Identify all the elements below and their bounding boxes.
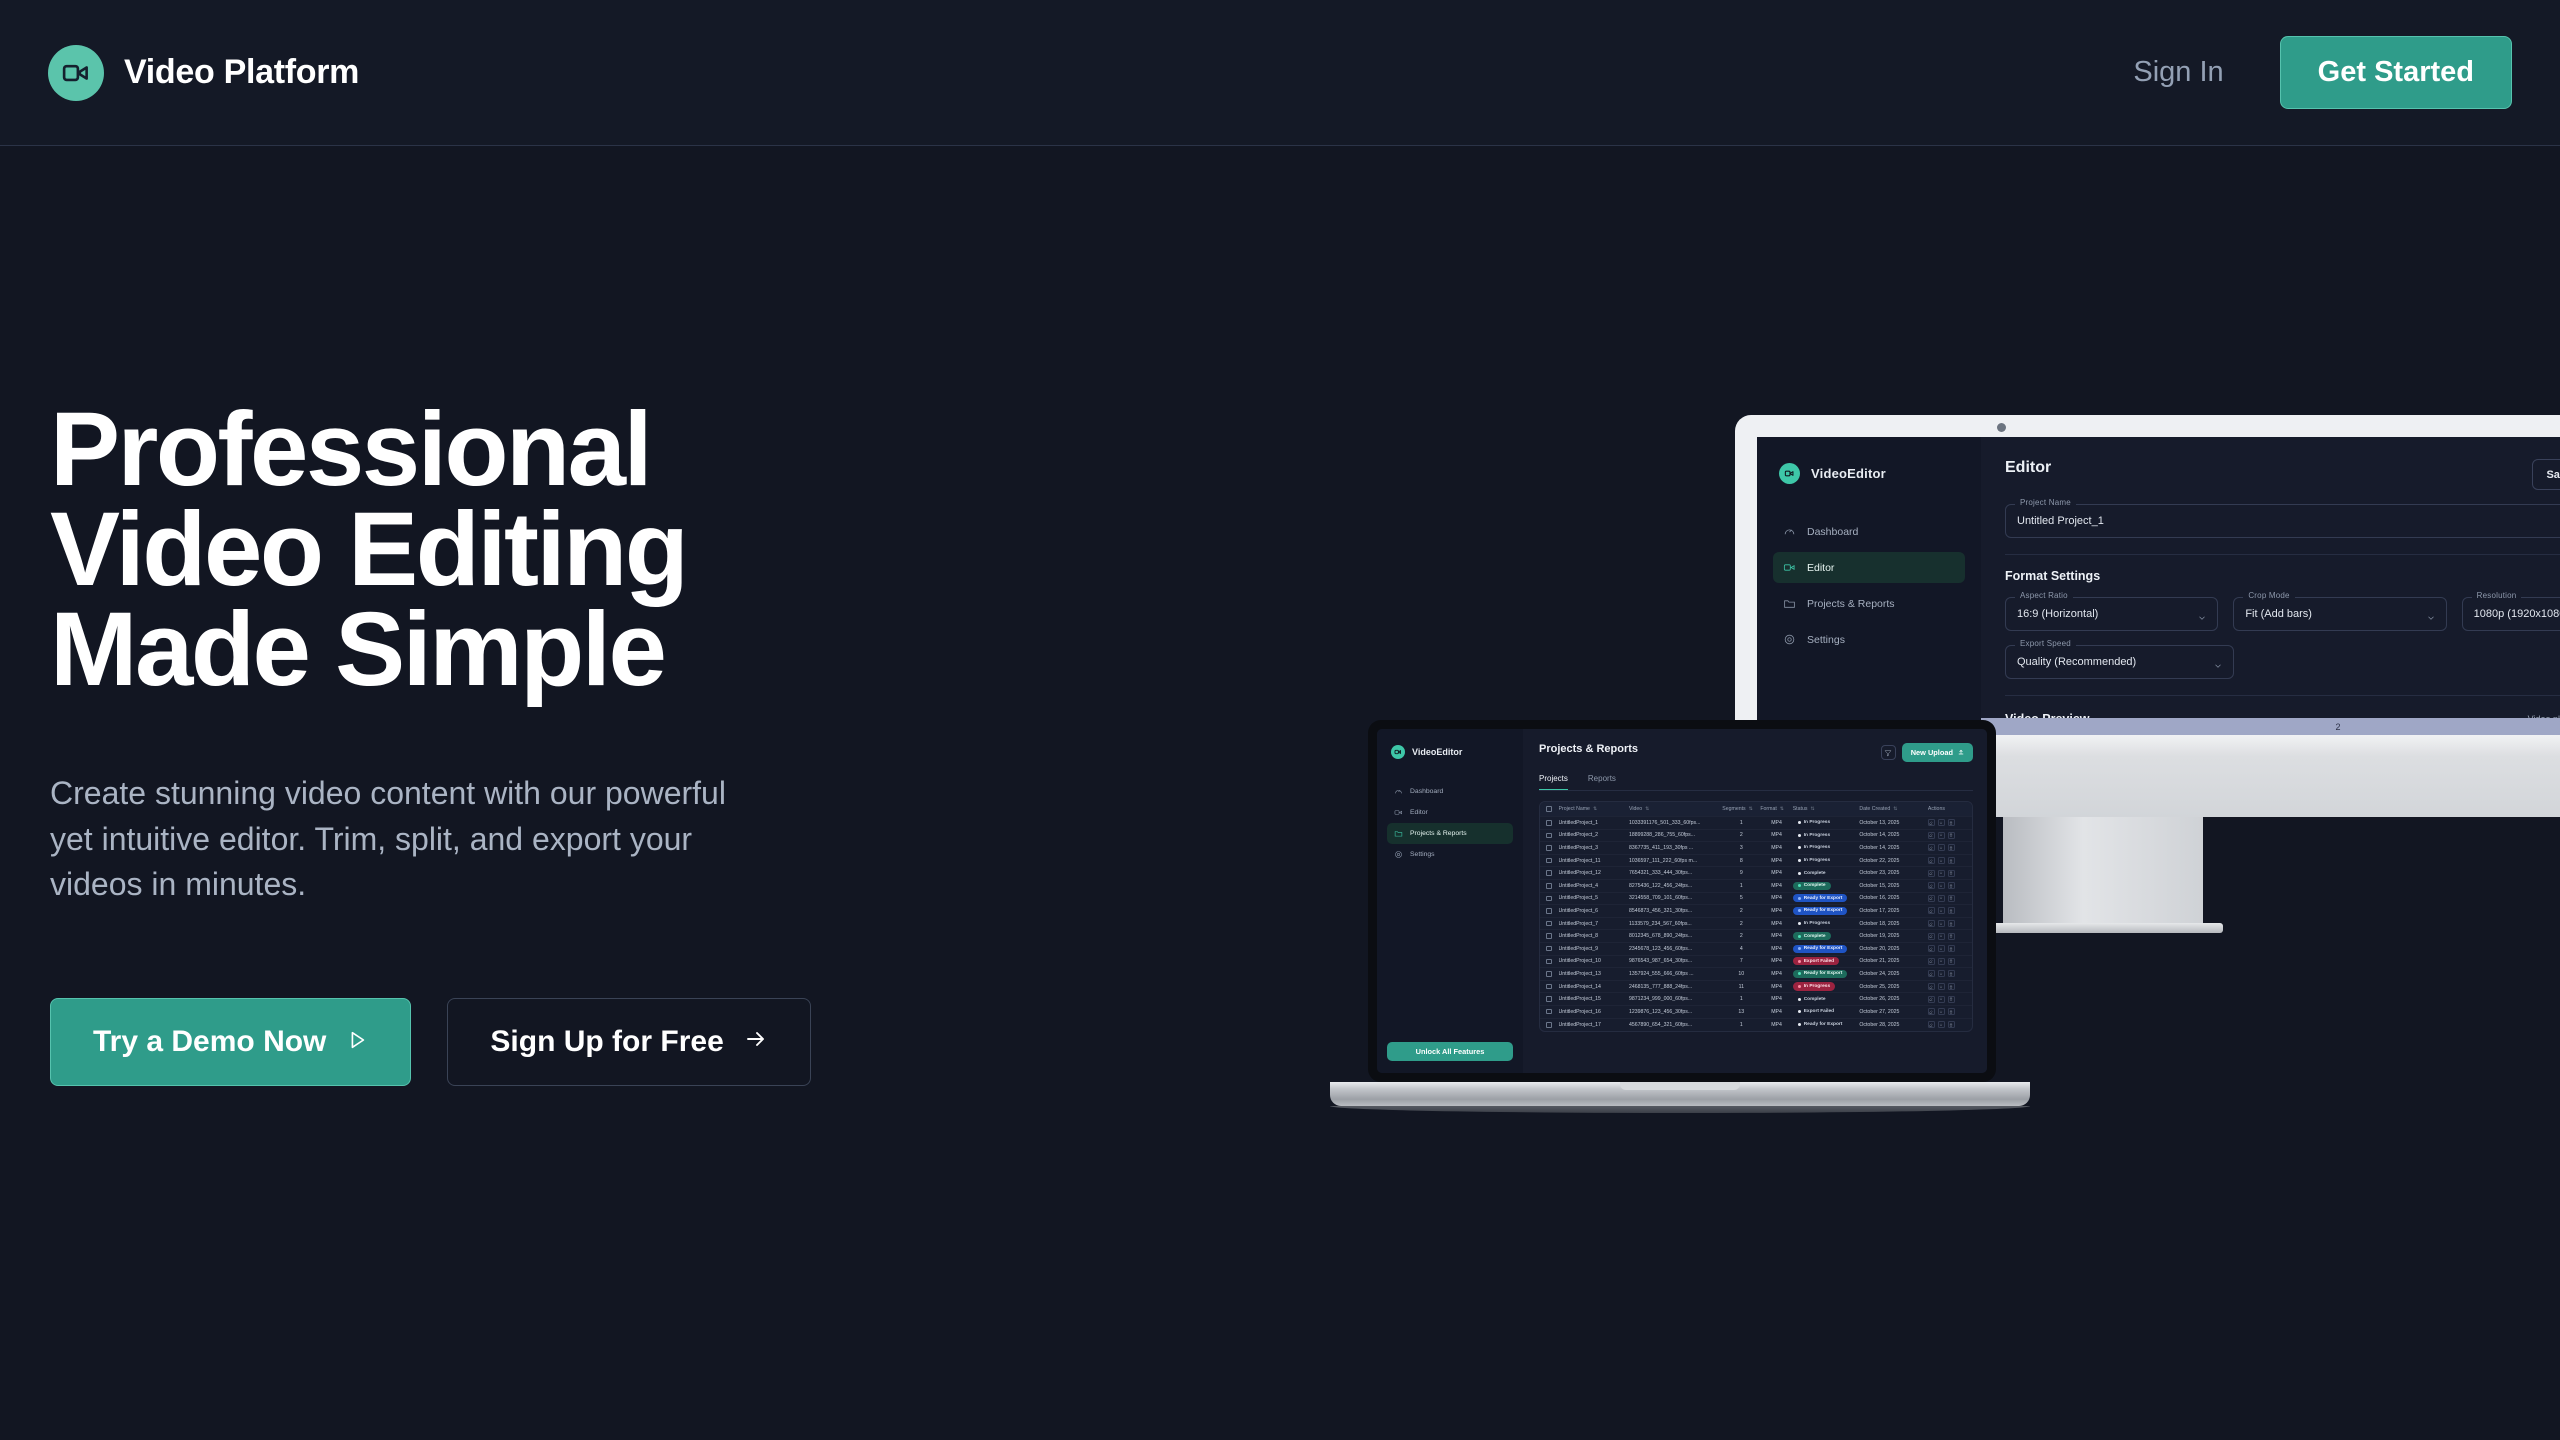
select-all-checkbox[interactable] <box>1546 806 1552 812</box>
cell-date-created: October 17, 2025 <box>1859 908 1928 914</box>
row-checkbox[interactable] <box>1546 996 1552 1002</box>
cell-format: MP4 <box>1760 933 1792 939</box>
sidebar-label: Projects & Reports <box>1410 830 1467 837</box>
cell-status: In Progress <box>1793 919 1860 927</box>
try-demo-label: Try a Demo Now <box>93 1025 326 1059</box>
status-badge: In Progress <box>1793 844 1835 852</box>
edit-icon[interactable] <box>1928 895 1935 902</box>
row-checkbox[interactable] <box>1546 984 1552 990</box>
tab-projects[interactable]: Projects <box>1539 774 1568 790</box>
cell-date-created: October 21, 2025 <box>1859 958 1928 964</box>
header-nav: Sign In Get Started <box>2133 36 2512 109</box>
sidebar-item-settings[interactable]: Settings <box>1387 844 1513 865</box>
row-checkbox[interactable] <box>1546 921 1552 927</box>
cell-date-created: October 18, 2025 <box>1859 921 1928 927</box>
edit-icon[interactable] <box>1928 819 1935 826</box>
cell-format: MP4 <box>1760 845 1792 851</box>
projects-brand-name: VideoEditor <box>1412 747 1462 757</box>
chevron-down-icon <box>2197 610 2207 628</box>
cell-project-name: UntitledProject_13 <box>1559 971 1629 977</box>
cell-status: Export Failed <box>1793 957 1860 965</box>
edit-icon[interactable] <box>1928 882 1935 889</box>
sidebar-item-settings[interactable]: Settings <box>1773 624 1965 655</box>
editor-page-title: Editor <box>2005 459 2051 477</box>
webcam-dot-icon <box>1997 423 2006 432</box>
sign-in-link[interactable]: Sign In <box>2133 56 2223 89</box>
landing-page: Video Platform Sign In Get Started Profe… <box>0 0 2560 1440</box>
projects-page-title: Projects & Reports <box>1539 743 1638 755</box>
col-actions: Actions <box>1928 806 1966 812</box>
col-date-created[interactable]: Date Created⇅ <box>1859 806 1928 812</box>
timeline-bar[interactable]: 2 <box>1981 718 2560 735</box>
row-checkbox[interactable] <box>1546 1009 1552 1015</box>
col-format[interactable]: Format⇅ <box>1760 806 1792 812</box>
cell-video: 2468135_777_888_24fps... <box>1629 984 1722 990</box>
delete-trash-icon[interactable] <box>1948 907 1955 914</box>
cell-format: MP4 <box>1760 895 1792 901</box>
sidebar-item-projects-reports[interactable]: Projects & Reports <box>1387 823 1513 844</box>
cell-video: 18899288_286_755_60fps... <box>1629 832 1722 838</box>
delete-trash-icon[interactable] <box>1948 882 1955 889</box>
status-badge: In Progress <box>1793 919 1835 927</box>
sort-icon: ⇅ <box>1810 806 1814 812</box>
row-checkbox[interactable] <box>1546 896 1552 902</box>
cell-status: Export Failed <box>1793 1008 1860 1016</box>
cell-segments: 2 <box>1722 832 1760 838</box>
cell-actions <box>1928 870 1966 877</box>
video-camera-icon <box>48 45 104 101</box>
project-name-value: Untitled Project_1 <box>2017 515 2104 527</box>
cell-segments: 2 <box>1722 921 1760 927</box>
sidebar-item-editor[interactable]: Editor <box>1773 552 1965 583</box>
delete-trash-icon[interactable] <box>1948 945 1955 952</box>
chevron-down-icon <box>2426 610 2436 628</box>
cell-date-created: October 13, 2025 <box>1859 820 1928 826</box>
cell-segments: 3 <box>1722 845 1760 851</box>
download-icon[interactable] <box>1938 970 1945 977</box>
download-icon[interactable] <box>1938 844 1945 851</box>
format-settings-heading: Format Settings <box>2005 569 2560 583</box>
cell-format: MP4 <box>1760 858 1792 864</box>
edit-icon[interactable] <box>1928 920 1935 927</box>
cell-date-created: October 14, 2025 <box>1859 845 1928 851</box>
table-row[interactable]: UntitledProject_68546873_456_321_30fps..… <box>1540 905 1972 918</box>
table-row[interactable]: UntitledProject_111036597_111_222_60fps … <box>1540 855 1972 868</box>
cell-project-name: UntitledProject_11 <box>1559 858 1629 864</box>
row-checkbox[interactable] <box>1546 946 1552 952</box>
status-badge: Ready for Export <box>1793 894 1848 902</box>
row-checkbox[interactable] <box>1546 959 1552 965</box>
cell-status: Ready for Export <box>1793 945 1860 953</box>
cell-status: In Progress <box>1793 982 1860 990</box>
row-checkbox[interactable] <box>1546 933 1552 939</box>
cell-project-name: UntitledProject_1 <box>1559 820 1629 826</box>
cell-video: 1357924_555_666_60fps ... <box>1629 971 1722 977</box>
cell-date-created: October 22, 2025 <box>1859 858 1928 864</box>
cell-status: Ready for Export <box>1793 970 1860 978</box>
download-icon[interactable] <box>1938 945 1945 952</box>
cell-status: Complete <box>1793 869 1860 877</box>
status-badge: In Progress <box>1793 982 1835 990</box>
laptop-lid: VideoEditor Dashboard Editor Projec <box>1368 720 1996 1082</box>
folder-icon <box>1783 597 1796 610</box>
cell-actions <box>1928 920 1966 927</box>
resolution-legend: Resolution <box>2472 591 2522 600</box>
hero-subtitle: Create stunning video content with our p… <box>50 771 730 907</box>
status-badge: Ready for Export <box>1793 970 1848 978</box>
laptop-mockup: VideoEditor Dashboard Editor Projec <box>1330 720 2030 1140</box>
delete-trash-icon[interactable] <box>1948 996 1955 1003</box>
cell-actions <box>1928 970 1966 977</box>
cell-video: 9871234_999_000_60fps... <box>1629 996 1722 1002</box>
video-camera-icon <box>1779 463 1800 484</box>
cell-status: In Progress <box>1793 819 1860 827</box>
sidebar-label: Editor <box>1807 562 1834 574</box>
export-speed-legend: Export Speed <box>2015 639 2076 648</box>
cell-actions <box>1928 844 1966 851</box>
export-speed-value: Quality (Recommended) <box>2017 656 2136 668</box>
projects-main: Projects & Reports New Upload Projects <box>1523 729 1987 1073</box>
cell-date-created: October 28, 2025 <box>1859 1022 1928 1028</box>
site-header: Video Platform Sign In Get Started <box>0 0 2560 146</box>
cell-video: 1033391176_501_333_60fps... <box>1629 820 1722 826</box>
cell-video: 1133579_234_567_60fps... <box>1629 921 1722 927</box>
cell-date-created: October 14, 2025 <box>1859 832 1928 838</box>
cell-video: 7654321_333_444_30fps... <box>1629 870 1722 876</box>
cell-format: MP4 <box>1760 832 1792 838</box>
col-project-name[interactable]: Project Name⇅ <box>1559 806 1629 812</box>
edit-icon[interactable] <box>1928 933 1935 940</box>
download-icon[interactable] <box>1938 895 1945 902</box>
edit-icon[interactable] <box>1928 832 1935 839</box>
project-name-field[interactable]: Project Name Untitled Project_1 <box>2005 504 2560 538</box>
desktop-monitor-mockup: VideoEditor Dashboard Editor <box>1735 415 2560 735</box>
new-upload-label: New Upload <box>1911 748 1953 757</box>
cell-format: MP4 <box>1760 883 1792 889</box>
timeline-value: 2 <box>2335 722 2340 732</box>
crop-mode-select[interactable]: Crop Mode Fit (Add bars) <box>2233 597 2446 631</box>
try-demo-button[interactable]: Try a Demo Now <box>50 998 411 1086</box>
device-mockups: VideoEditor Dashboard Editor <box>1330 330 2560 1210</box>
cell-format: MP4 <box>1760 908 1792 914</box>
delete-trash-icon[interactable] <box>1948 1008 1955 1015</box>
cell-project-name: UntitledProject_6 <box>1559 908 1629 914</box>
cell-project-name: UntitledProject_4 <box>1559 883 1629 889</box>
cell-video: 8546873_456_321_30fps... <box>1629 908 1722 914</box>
projects-sidebar: VideoEditor Dashboard Editor Projec <box>1377 729 1523 1073</box>
cell-actions <box>1928 996 1966 1003</box>
cell-project-name: UntitledProject_10 <box>1559 958 1629 964</box>
sort-icon: ⇅ <box>1893 806 1897 812</box>
col-video[interactable]: Video⇅ <box>1629 806 1722 812</box>
cell-segments: 11 <box>1722 984 1760 990</box>
gear-icon <box>1394 850 1403 859</box>
editor-main: Editor Save Export Project Nam <box>1981 437 2560 735</box>
video-camera-icon <box>1394 808 1403 817</box>
cell-format: MP4 <box>1760 946 1792 952</box>
upload-icon <box>1958 748 1964 757</box>
row-checkbox[interactable] <box>1546 833 1552 839</box>
video-camera-icon <box>1783 561 1796 574</box>
delete-trash-icon[interactable] <box>1948 819 1955 826</box>
gear-icon <box>1783 633 1796 646</box>
table-row[interactable]: UntitledProject_127654321_333_444_30fps.… <box>1540 867 1972 880</box>
table-row[interactable]: UntitledProject_131357924_555_666_60fps … <box>1540 968 1972 981</box>
edit-icon[interactable] <box>1928 945 1935 952</box>
cell-video: 8012345_678_890_24fps... <box>1629 933 1722 939</box>
delete-trash-icon[interactable] <box>1948 958 1955 965</box>
col-segments[interactable]: Segments⇅ <box>1722 806 1760 812</box>
cell-format: MP4 <box>1760 820 1792 826</box>
cell-actions <box>1928 857 1966 864</box>
editor-actions: Save Export <box>2532 459 2560 490</box>
unlock-all-features-button[interactable]: Unlock All Features <box>1387 1042 1513 1061</box>
download-icon[interactable] <box>1938 857 1945 864</box>
edit-icon[interactable] <box>1928 857 1935 864</box>
table-row[interactable]: UntitledProject_38367735_411_193_30fps .… <box>1540 842 1972 855</box>
cell-video: 2345678_123_456_60fps... <box>1629 946 1722 952</box>
status-badge: Complete <box>1793 995 1831 1003</box>
laptop-foot-shadow <box>1330 1106 2030 1113</box>
download-icon[interactable] <box>1938 958 1945 965</box>
delete-trash-icon[interactable] <box>1948 970 1955 977</box>
cell-actions <box>1928 1008 1966 1015</box>
sort-icon: ⇅ <box>1780 806 1784 812</box>
edit-icon[interactable] <box>1928 870 1935 877</box>
download-icon[interactable] <box>1938 882 1945 889</box>
sidebar-item-editor[interactable]: Editor <box>1387 802 1513 823</box>
download-icon[interactable] <box>1938 832 1945 839</box>
get-started-button[interactable]: Get Started <box>2280 36 2512 109</box>
cell-format: MP4 <box>1760 971 1792 977</box>
row-checkbox[interactable] <box>1546 971 1552 977</box>
row-checkbox[interactable] <box>1546 1022 1552 1028</box>
download-icon[interactable] <box>1938 870 1945 877</box>
download-icon[interactable] <box>1938 996 1945 1003</box>
filter-funnel-icon[interactable] <box>1881 745 1896 760</box>
laptop-base-notch <box>1620 1082 1740 1090</box>
download-icon[interactable] <box>1938 983 1945 990</box>
download-icon[interactable] <box>1938 907 1945 914</box>
hero-title-line-3: Made Simple <box>50 600 1050 700</box>
table-row[interactable]: UntitledProject_48275436_122_456_24fps..… <box>1540 880 1972 893</box>
cell-project-name: UntitledProject_3 <box>1559 845 1629 851</box>
cell-project-name: UntitledProject_17 <box>1559 1022 1629 1028</box>
download-icon[interactable] <box>1938 933 1945 940</box>
cell-status: Ready for Export <box>1793 1021 1860 1029</box>
table-row[interactable]: UntitledProject_92345678_123_456_60fps..… <box>1540 943 1972 956</box>
cell-video: 8367735_411_193_30fps ... <box>1629 845 1722 851</box>
hero-section: Professional Video Editing Made Simple C… <box>50 400 1050 1086</box>
sidebar-item-dashboard[interactable]: Dashboard <box>1387 781 1513 802</box>
editor-brand: VideoEditor <box>1773 463 1965 484</box>
cell-status: Complete <box>1793 932 1860 940</box>
row-checkbox[interactable] <box>1546 870 1552 876</box>
cell-format: MP4 <box>1760 958 1792 964</box>
cell-segments: 2 <box>1722 908 1760 914</box>
delete-trash-icon[interactable] <box>1948 983 1955 990</box>
video-camera-icon <box>1391 745 1405 759</box>
edit-icon[interactable] <box>1928 983 1935 990</box>
cell-actions <box>1928 832 1966 839</box>
cell-date-created: October 24, 2025 <box>1859 971 1928 977</box>
cell-project-name: UntitledProject_15 <box>1559 996 1629 1002</box>
download-icon[interactable] <box>1938 920 1945 927</box>
monitor-stand-neck <box>2003 817 2203 925</box>
aspect-ratio-value: 16:9 (Horizontal) <box>2017 608 2098 620</box>
resolution-value: 1080p (1920x1080) <box>2474 608 2560 620</box>
download-icon[interactable] <box>1938 1021 1945 1028</box>
cell-segments: 1 <box>1722 1022 1760 1028</box>
brand-name: Video Platform <box>124 53 359 92</box>
cell-format: MP4 <box>1760 1022 1792 1028</box>
col-status[interactable]: Status⇅ <box>1793 806 1860 812</box>
cell-date-created: October 15, 2025 <box>1859 883 1928 889</box>
cell-status: Ready for Export <box>1793 907 1860 915</box>
cell-date-created: October 16, 2025 <box>1859 895 1928 901</box>
edit-icon[interactable] <box>1928 907 1935 914</box>
table-row[interactable]: UntitledProject_71133579_234_567_60fps..… <box>1540 918 1972 931</box>
cell-video: 1036597_111_222_60fps m... <box>1629 858 1722 864</box>
cell-status: Complete <box>1793 882 1860 890</box>
cell-video: 9876543_987_654_30fps... <box>1629 958 1722 964</box>
cell-project-name: UntitledProject_5 <box>1559 895 1629 901</box>
status-badge: Ready for Export <box>1793 1021 1848 1029</box>
status-badge: Complete <box>1793 882 1831 890</box>
cell-date-created: October 20, 2025 <box>1859 946 1928 952</box>
download-icon[interactable] <box>1938 1008 1945 1015</box>
delete-trash-icon[interactable] <box>1948 832 1955 839</box>
row-checkbox[interactable] <box>1546 858 1552 864</box>
cell-segments: 2 <box>1722 933 1760 939</box>
play-triangle-icon <box>346 1025 368 1059</box>
delete-trash-icon[interactable] <box>1948 1021 1955 1028</box>
sidebar-label: Dashboard <box>1410 788 1443 795</box>
row-checkbox[interactable] <box>1546 908 1552 914</box>
chevron-down-icon <box>2213 658 2223 676</box>
delete-trash-icon[interactable] <box>1948 933 1955 940</box>
status-badge: In Progress <box>1793 856 1835 864</box>
edit-icon[interactable] <box>1928 996 1935 1003</box>
cell-segments: 13 <box>1722 1009 1760 1015</box>
download-icon[interactable] <box>1938 819 1945 826</box>
status-badge: Ready for Export <box>1793 945 1848 953</box>
cell-status: In Progress <box>1793 856 1860 864</box>
sort-icon: ⇅ <box>1749 806 1753 812</box>
edit-icon[interactable] <box>1928 958 1935 965</box>
cell-project-name: UntitledProject_8 <box>1559 933 1629 939</box>
table-row[interactable]: UntitledProject_218899288_286_755_60fps.… <box>1540 830 1972 843</box>
editor-brand-name: VideoEditor <box>1811 466 1886 481</box>
table-row[interactable]: UntitledProject_109876543_987_654_30fps.… <box>1540 956 1972 969</box>
delete-trash-icon[interactable] <box>1948 857 1955 864</box>
cell-segments: 9 <box>1722 870 1760 876</box>
table-row[interactable]: UntitledProject_161239876_123_456_30fps.… <box>1540 1006 1972 1019</box>
status-badge: Export Failed <box>1793 1008 1839 1016</box>
row-checkbox[interactable] <box>1546 883 1552 889</box>
cell-segments: 1 <box>1722 996 1760 1002</box>
cell-actions <box>1928 819 1966 826</box>
crop-mode-legend: Crop Mode <box>2243 591 2294 600</box>
table-row[interactable]: UntitledProject_11033391176_501_333_60fp… <box>1540 817 1972 830</box>
table-row[interactable]: UntitledProject_159871234_999_000_60fps.… <box>1540 993 1972 1006</box>
edit-icon[interactable] <box>1928 1008 1935 1015</box>
brand[interactable]: Video Platform <box>48 45 359 101</box>
cell-actions <box>1928 933 1966 940</box>
projects-table: Project Name⇅ Video⇅ Segments⇅ Format⇅ S… <box>1539 801 1973 1032</box>
folder-icon <box>1394 829 1403 838</box>
row-checkbox[interactable] <box>1546 820 1552 826</box>
export-speed-select[interactable]: Export Speed Quality (Recommended) <box>2005 645 2234 679</box>
delete-trash-icon[interactable] <box>1948 844 1955 851</box>
tab-reports[interactable]: Reports <box>1588 774 1616 790</box>
format-settings-row-1: Aspect Ratio 16:9 (Horizontal) Crop Mode… <box>2005 583 2560 631</box>
sort-icon: ⇅ <box>1593 806 1597 812</box>
cell-segments: 4 <box>1722 946 1760 952</box>
sidebar-item-dashboard[interactable]: Dashboard <box>1773 516 1965 547</box>
status-badge: Complete <box>1793 869 1831 877</box>
edit-icon[interactable] <box>1928 1021 1935 1028</box>
table-row[interactable]: UntitledProject_174567890_654_321_60fps.… <box>1540 1019 1972 1032</box>
crop-mode-value: Fit (Add bars) <box>2245 608 2312 620</box>
table-row[interactable]: UntitledProject_88012345_678_890_24fps..… <box>1540 930 1972 943</box>
delete-trash-icon[interactable] <box>1948 895 1955 902</box>
table-body: UntitledProject_11033391176_501_333_60fp… <box>1540 817 1972 1031</box>
cell-date-created: October 27, 2025 <box>1859 1009 1928 1015</box>
cell-format: MP4 <box>1760 1009 1792 1015</box>
projects-brand: VideoEditor <box>1387 745 1513 759</box>
cell-format: MP4 <box>1760 984 1792 990</box>
cell-date-created: October 26, 2025 <box>1859 996 1928 1002</box>
projects-header: Projects & Reports New Upload <box>1539 743 1973 762</box>
sidebar-label: Dashboard <box>1807 526 1858 538</box>
cell-segments: 1 <box>1722 820 1760 826</box>
status-badge: Ready for Export <box>1793 907 1848 915</box>
cell-project-name: UntitledProject_16 <box>1559 1009 1629 1015</box>
delete-trash-icon[interactable] <box>1948 870 1955 877</box>
delete-trash-icon[interactable] <box>1948 920 1955 927</box>
aspect-ratio-select[interactable]: Aspect Ratio 16:9 (Horizontal) <box>2005 597 2218 631</box>
hero-title-line-2: Video Editing <box>50 500 1050 600</box>
sidebar-label: Projects & Reports <box>1807 598 1895 610</box>
project-name-legend: Project Name <box>2015 498 2076 507</box>
edit-icon[interactable] <box>1928 844 1935 851</box>
cell-status: In Progress <box>1793 831 1860 839</box>
cell-actions <box>1928 895 1966 902</box>
save-button[interactable]: Save <box>2532 459 2560 490</box>
cell-format: MP4 <box>1760 921 1792 927</box>
edit-icon[interactable] <box>1928 970 1935 977</box>
sidebar-label: Settings <box>1410 851 1435 858</box>
resolution-select[interactable]: Resolution 1080p (1920x1080) <box>2462 597 2560 631</box>
cell-video: 1239876_123_456_30fps... <box>1629 1009 1722 1015</box>
sidebar-item-projects-reports[interactable]: Projects & Reports <box>1773 588 1965 619</box>
sign-up-free-button[interactable]: Sign Up for Free <box>447 998 810 1086</box>
row-checkbox[interactable] <box>1546 845 1552 851</box>
dashboard-icon <box>1783 525 1796 538</box>
dashboard-icon <box>1394 787 1403 796</box>
hero-title-line-1: Professional <box>50 400 1050 500</box>
laptop-screen: VideoEditor Dashboard Editor Projec <box>1377 729 1987 1073</box>
cell-segments: 8 <box>1722 858 1760 864</box>
monitor-screen: VideoEditor Dashboard Editor <box>1757 437 2560 735</box>
table-row[interactable]: UntitledProject_142468135_777_888_24fps.… <box>1540 981 1972 994</box>
cell-project-name: UntitledProject_7 <box>1559 921 1629 927</box>
aspect-ratio-legend: Aspect Ratio <box>2015 591 2073 600</box>
divider <box>2005 695 2560 696</box>
new-upload-button[interactable]: New Upload <box>1902 743 1973 762</box>
table-row[interactable]: UntitledProject_53214558_709_101_60fps..… <box>1540 893 1972 906</box>
